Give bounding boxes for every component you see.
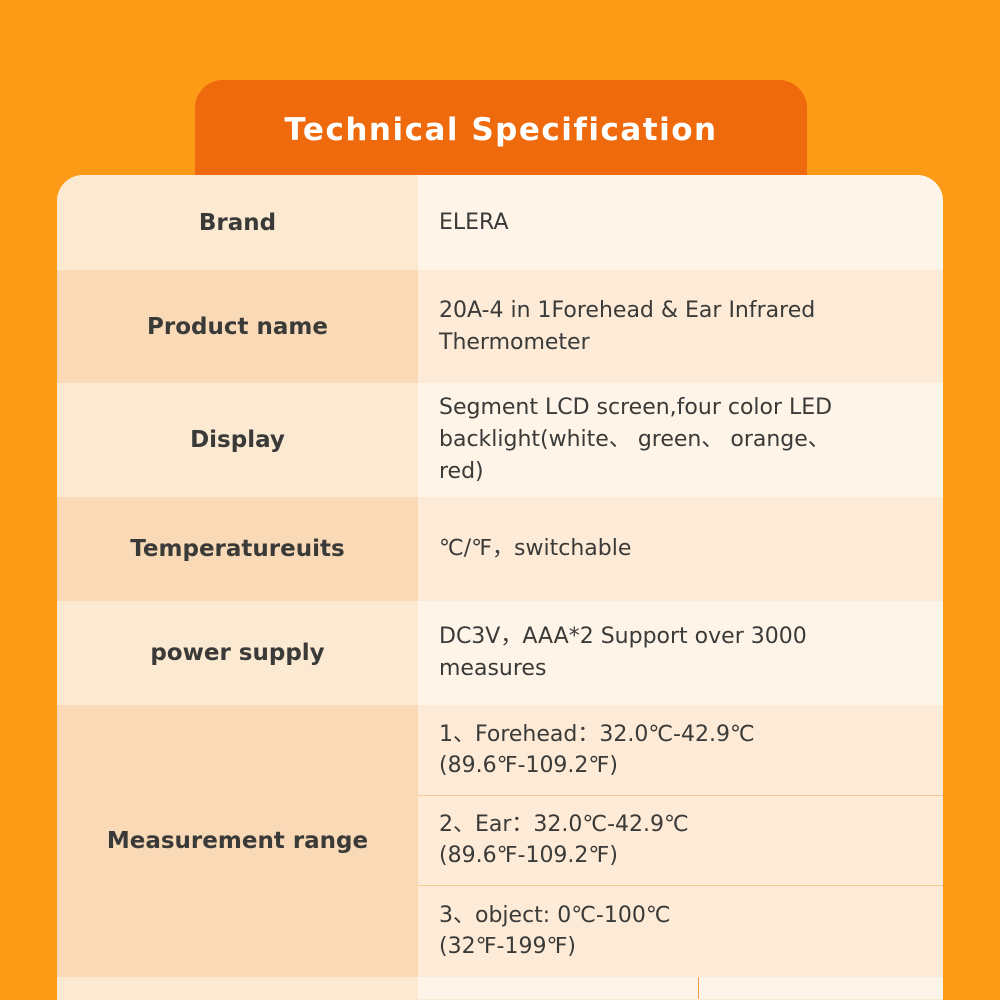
table-row: Product name 20A-4 in 1Forehead & Ear In…	[57, 270, 943, 383]
row-label: Measurement range	[57, 705, 418, 977]
value-line: Thermometer	[439, 327, 925, 359]
value-line: 20A-4 in 1Forehead & Ear Infrared	[439, 295, 925, 327]
row-value: 20A-4 in 1Forehead & Ear Infrared Thermo…	[418, 270, 943, 383]
table-row-measurement-range: Measurement range 1、Forehead：32.0℃-42.9℃…	[57, 705, 943, 977]
value-line: DC3V，AAA*2 Support over 3000	[439, 621, 925, 653]
value-line: measures	[439, 653, 925, 685]
row-label-partial	[57, 977, 418, 999]
row-value: ELERA	[418, 175, 943, 270]
measurement-entry: 1、Forehead：32.0℃-42.9℃ (89.6℉-109.2℉)	[418, 705, 943, 796]
row-label: Product name	[57, 270, 418, 383]
row-value: ℃/℉，switchable	[418, 497, 943, 601]
table-row-partial	[57, 977, 943, 999]
row-value: DC3V，AAA*2 Support over 3000 measures	[418, 601, 943, 705]
table-row: Brand ELERA	[57, 175, 943, 270]
table-row: Display Segment LCD screen,four color LE…	[57, 383, 943, 497]
technical-specification-card: Technical Specification Brand ELERA Prod…	[57, 80, 943, 1000]
value-line: ℃/℉，switchable	[439, 533, 925, 565]
measurement-entry: 3、object: 0℃-100℃ (32℉-199℉)	[418, 886, 943, 977]
page-title: Technical Specification	[284, 112, 717, 148]
row-value-partial	[418, 977, 943, 999]
row-label: Temperatureuits	[57, 497, 418, 601]
row-label: power supply	[57, 601, 418, 705]
measurement-entry: 2、Ear：32.0℃-42.9℃ (89.6℉-109.2℉)	[418, 796, 943, 887]
measurement-values: 1、Forehead：32.0℃-42.9℃ (89.6℉-109.2℉) 2、…	[418, 705, 943, 977]
table-row: Temperatureuits ℃/℉，switchable	[57, 497, 943, 601]
value-line: backlight(white、 green、 orange、	[439, 424, 925, 456]
partial-segment-right	[699, 977, 943, 999]
table-row: power supply DC3V，AAA*2 Support over 300…	[57, 601, 943, 705]
value-line: ELERA	[439, 207, 925, 239]
spec-header-tab: Technical Specification	[195, 80, 807, 180]
value-line: 2、Ear：32.0℃-42.9℃	[439, 809, 925, 840]
value-line: 1、Forehead：32.0℃-42.9℃	[439, 719, 925, 750]
value-line: Segment LCD screen,four color LED	[439, 392, 925, 424]
value-line: red)	[439, 456, 925, 488]
value-line: (89.6℉-109.2℉)	[439, 840, 925, 871]
value-line: (89.6℉-109.2℉)	[439, 750, 925, 781]
row-value: Segment LCD screen,four color LED backli…	[418, 383, 943, 497]
value-line: 3、object: 0℃-100℃	[439, 900, 925, 931]
spec-table: Brand ELERA Product name 20A-4 in 1Foreh…	[57, 175, 943, 1000]
row-label: Display	[57, 383, 418, 497]
partial-segment-left	[418, 977, 699, 999]
value-line: (32℉-199℉)	[439, 931, 925, 962]
row-label: Brand	[57, 175, 418, 270]
